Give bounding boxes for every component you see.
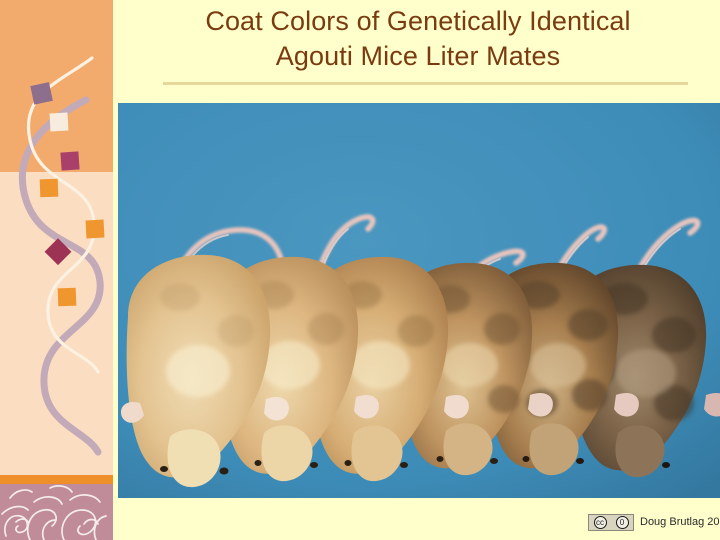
title-underline-rule [163,82,688,85]
square-purple [30,82,53,105]
agouti-mice-photograph [118,103,720,498]
decorative-sidebar [0,0,113,540]
slide-canvas: Coat Colors of Genetically IdenticalAgou… [0,0,720,540]
paisley-pattern-graphic [0,484,113,540]
slide-title-line-2: Agouti Mice Liter Mates [276,41,560,71]
square-orange-mid [86,220,105,239]
sidebar-paisley-band [0,484,113,540]
slide-title-line-1: Coat Colors of Genetically Identical [205,6,630,36]
slide-title: Coat Colors of Genetically IdenticalAgou… [120,4,716,73]
ribbon-cream [28,58,98,372]
cc-mark-icon: cc [594,516,607,529]
square-orange-lower [58,288,77,307]
page-title: Coat Colors of Genetically IdenticalAgou… [120,4,716,73]
credit-text: Doug Brutlag 2011 [640,516,720,528]
sidebar-orange-divider [0,475,113,484]
sidebar-ribbon-graphic [0,0,113,540]
credit-line: cc 0 Doug Brutlag 2011 [588,512,720,532]
creative-commons-badge-icon[interactable]: cc 0 [588,514,634,531]
cc-zero-mark-icon: 0 [616,516,629,529]
square-magenta [60,151,79,170]
square-orange-upper [40,179,59,198]
square-cream [50,113,69,132]
